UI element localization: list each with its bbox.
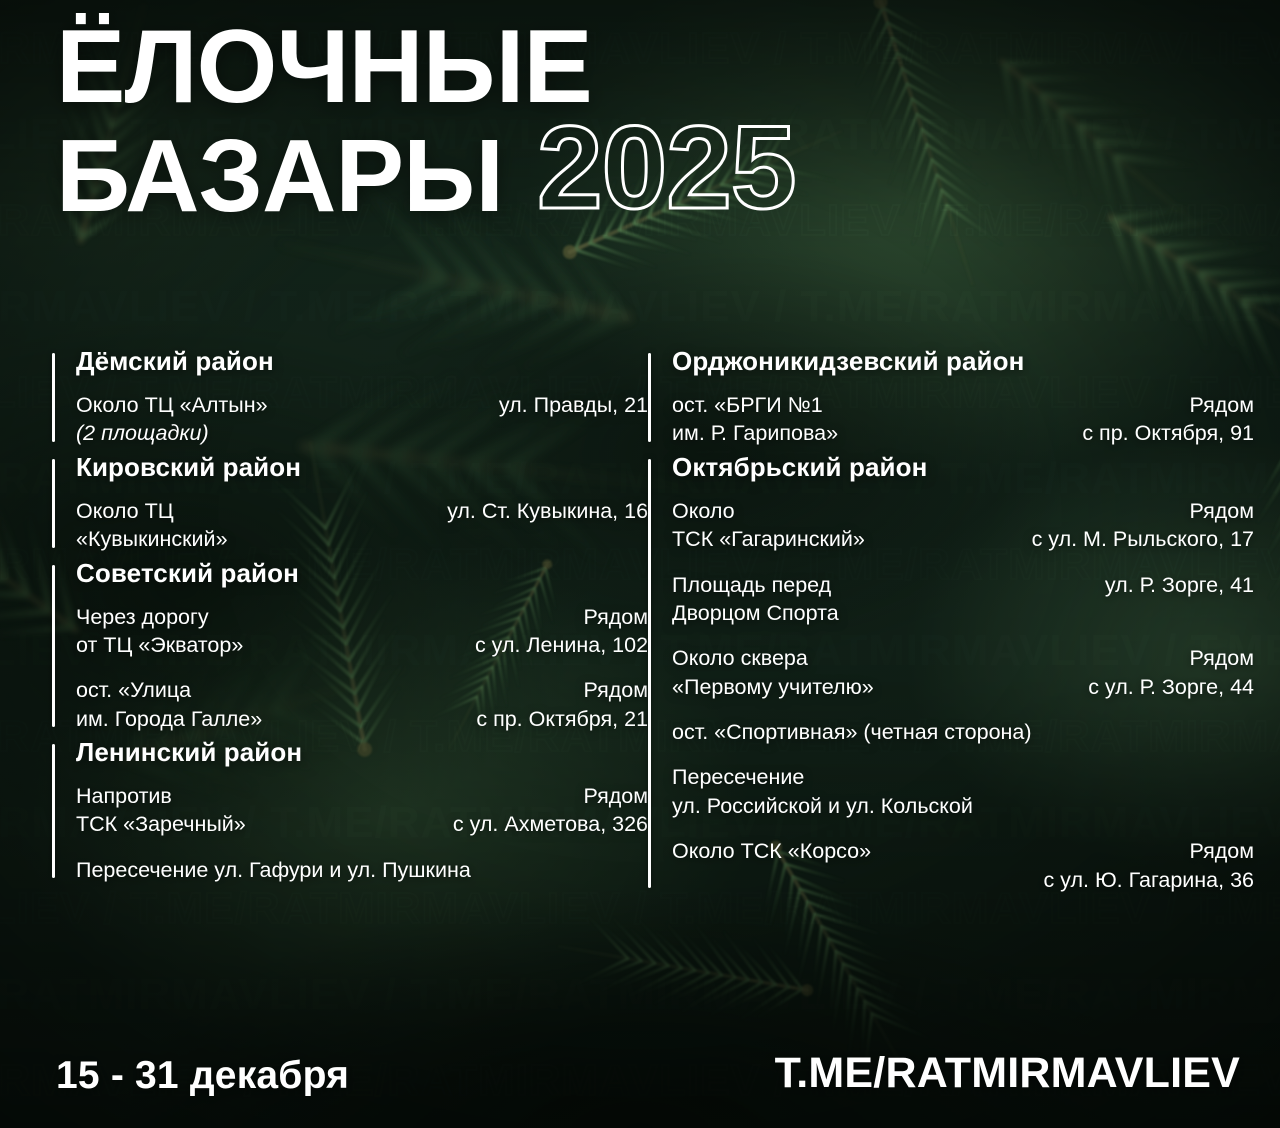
- entry-address-cont: с пр. Октября, 21: [476, 705, 648, 733]
- entry-full-line: ост. «Спортивная» (четная сторона): [672, 718, 1254, 746]
- entry-place-cont: ТСК «Заречный»: [76, 810, 246, 838]
- market-entry: Площадь передул. Р. Зорге, 41Дворцом Спо…: [672, 571, 1254, 628]
- entry-address-cont: с пр. Октября, 91: [1082, 419, 1254, 447]
- district-section: Орджоникидзевский районост. «БРГИ №1Рядо…: [648, 346, 1254, 448]
- entry-address: Рядом: [583, 603, 648, 631]
- entry-row: Около ТЦул. Ст. Кувыкина, 16: [76, 497, 648, 525]
- entry-row: Около ТЦ «Алтын»ул. Правды, 21: [76, 391, 648, 419]
- entry-row: ТСК «Заречный»с ул. Ахметова, 326: [76, 810, 648, 838]
- entry-place: ост. «Улица: [76, 676, 191, 704]
- district-title: Орджоникидзевский район: [672, 346, 1254, 377]
- entry-row: ост. «БРГИ №1Рядом: [672, 391, 1254, 419]
- district-section: Ленинский районНапротивРядомТСК «Заречны…: [52, 737, 648, 884]
- market-entry: Около ТСК «Корсо»Рядомс ул. Ю. Гагарина,…: [672, 837, 1254, 894]
- entry-place: ост. «БРГИ №1: [672, 391, 823, 419]
- entry-row: ост. «УлицаРядом: [76, 676, 648, 704]
- entry-place: Около сквера: [672, 644, 808, 672]
- entry-address-cont: с ул. Ахметова, 326: [453, 810, 648, 838]
- entry-place: Около ТСК «Корсо»: [672, 837, 871, 865]
- market-entry: Пересечение ул. Гафури и ул. Пушкина: [76, 856, 648, 884]
- entry-place: Площадь перед: [672, 571, 831, 599]
- entry-place: Около ТЦ: [76, 497, 174, 525]
- district-title: Советский район: [76, 558, 648, 589]
- district-section: Октябрьский районОколоРядомТСК «Гагаринс…: [648, 452, 1254, 894]
- market-entry: ОколоРядомТСК «Гагаринский»с ул. М. Рыль…: [672, 497, 1254, 554]
- entry-place: Через дорогу: [76, 603, 209, 631]
- entry-row: им. Р. Гарипова»с пр. Октября, 91: [672, 419, 1254, 447]
- entry-row: от ТЦ «Экватор»с ул. Ленина, 102: [76, 631, 648, 659]
- market-entry: Пересечениеул. Российской и ул. Кольской: [672, 763, 1254, 820]
- left-column: Дёмский районОколо ТЦ «Алтын»ул. Правды,…: [52, 346, 648, 898]
- headline-line-2: БАЗАРЫ: [56, 127, 503, 225]
- poster-footer: 15 - 31 декабря T.ME/RATMIRMAVLIEV: [56, 1049, 1240, 1098]
- entry-place: Около: [672, 497, 735, 525]
- market-entry: Около ТЦул. Ст. Кувыкина, 16«Кувыкинский…: [76, 497, 648, 554]
- market-entry: ост. «УлицаРядомим. Города Галле»с пр. О…: [76, 676, 648, 733]
- district-title: Ленинский район: [76, 737, 648, 768]
- entry-address-cont: с ул. Р. Зорге, 44: [1088, 673, 1254, 701]
- entry-address: Рядом: [1189, 497, 1254, 525]
- entry-row: Дворцом Спорта: [672, 599, 1254, 627]
- entry-address: ул. Р. Зорге, 41: [1105, 571, 1254, 599]
- entry-row: Площадь передул. Р. Зорге, 41: [672, 571, 1254, 599]
- entry-row: «Первому учителю»с ул. Р. Зорге, 44: [672, 673, 1254, 701]
- entry-row: Около сквераРядом: [672, 644, 1254, 672]
- district-title: Октябрьский район: [672, 452, 1254, 483]
- entry-address: Рядом: [1189, 837, 1254, 865]
- entry-address: Рядом: [583, 676, 648, 704]
- district-title: Дёмский район: [76, 346, 648, 377]
- entry-row: Около ТСК «Корсо»Рядом: [672, 837, 1254, 865]
- entry-address: Рядом: [1189, 391, 1254, 419]
- entry-place-cont: «Кувыкинский»: [76, 525, 228, 553]
- district-section: Кировский районОколо ТЦул. Ст. Кувыкина,…: [52, 452, 648, 554]
- entry-row: с ул. Ю. Гагарина, 36: [672, 866, 1254, 894]
- entry-row: им. Города Галле»с пр. Октября, 21: [76, 705, 648, 733]
- right-column: Орджоникидзевский районост. «БРГИ №1Рядо…: [648, 346, 1254, 898]
- entry-place: Около ТЦ «Алтын»: [76, 391, 268, 419]
- entry-row: Через дорогуРядом: [76, 603, 648, 631]
- telegram-channel-link[interactable]: T.ME/RATMIRMAVLIEV: [775, 1049, 1240, 1098]
- date-range: 15 - 31 декабря: [56, 1054, 349, 1098]
- market-entry: Около сквераРядом«Первому учителю»с ул. …: [672, 644, 1254, 701]
- entry-place-cont: «Первому учителю»: [672, 673, 874, 701]
- entry-row: ОколоРядом: [672, 497, 1254, 525]
- market-entry: ост. «Спортивная» (четная сторона): [672, 718, 1254, 746]
- entry-place-cont: им. Города Галле»: [76, 705, 262, 733]
- entry-address-cont: с ул. Ленина, 102: [475, 631, 648, 659]
- year-outline-text: 2025: [537, 117, 796, 221]
- district-section: Дёмский районОколо ТЦ «Алтын»ул. Правды,…: [52, 346, 648, 448]
- entry-place: Напротив: [76, 782, 172, 810]
- entry-address: ул. Правды, 21: [499, 391, 648, 419]
- market-entry: Через дорогуРядомот ТЦ «Экватор»с ул. Ле…: [76, 603, 648, 660]
- district-title: Кировский район: [76, 452, 648, 483]
- districts-columns: Дёмский районОколо ТЦ «Алтын»ул. Правды,…: [52, 346, 1254, 898]
- entry-place-cont: от ТЦ «Экватор»: [76, 631, 243, 659]
- market-entry: ост. «БРГИ №1Рядомим. Р. Гарипова»с пр. …: [672, 391, 1254, 448]
- entry-row: «Кувыкинский»: [76, 525, 648, 553]
- entry-full-line: Пересечение ул. Гафури и ул. Пушкина: [76, 856, 648, 884]
- district-section: Советский районЧерез дорогуРядомот ТЦ «Э…: [52, 558, 648, 734]
- entry-address: Рядом: [1189, 644, 1254, 672]
- poster-root: T.ME/RATMIRMAVLIEV / T.ME/RATMIRMAVLIEV …: [0, 0, 1280, 1128]
- entry-full-line: ул. Российской и ул. Кольской: [672, 792, 1254, 820]
- market-entry: Около ТЦ «Алтын»ул. Правды, 21(2 площадк…: [76, 391, 648, 448]
- entry-address: Рядом: [583, 782, 648, 810]
- poster-headline: ЁЛОЧНЫЕ БАЗАРЫ 2025: [56, 18, 1240, 225]
- entry-place-cont: им. Р. Гарипова»: [672, 419, 838, 447]
- entry-row: ТСК «Гагаринский»с ул. М. Рыльского, 17: [672, 525, 1254, 553]
- entry-address-cont: с ул. М. Рыльского, 17: [1032, 525, 1254, 553]
- entry-address: ул. Ст. Кувыкина, 16: [447, 497, 648, 525]
- entry-full-line: Пересечение: [672, 763, 1254, 791]
- entry-place-cont: ТСК «Гагаринский»: [672, 525, 865, 553]
- market-entry: НапротивРядомТСК «Заречный»с ул. Ахметов…: [76, 782, 648, 839]
- entry-note: (2 площадки): [76, 419, 209, 447]
- entry-place-cont: Дворцом Спорта: [672, 599, 839, 627]
- entry-address-cont: с ул. Ю. Гагарина, 36: [1043, 866, 1254, 894]
- poster-content: ЁЛОЧНЫЕ БАЗАРЫ 2025 Дёмский районОколо Т…: [0, 0, 1280, 1128]
- entry-row-note: (2 площадки): [76, 419, 648, 447]
- entry-row: НапротивРядом: [76, 782, 648, 810]
